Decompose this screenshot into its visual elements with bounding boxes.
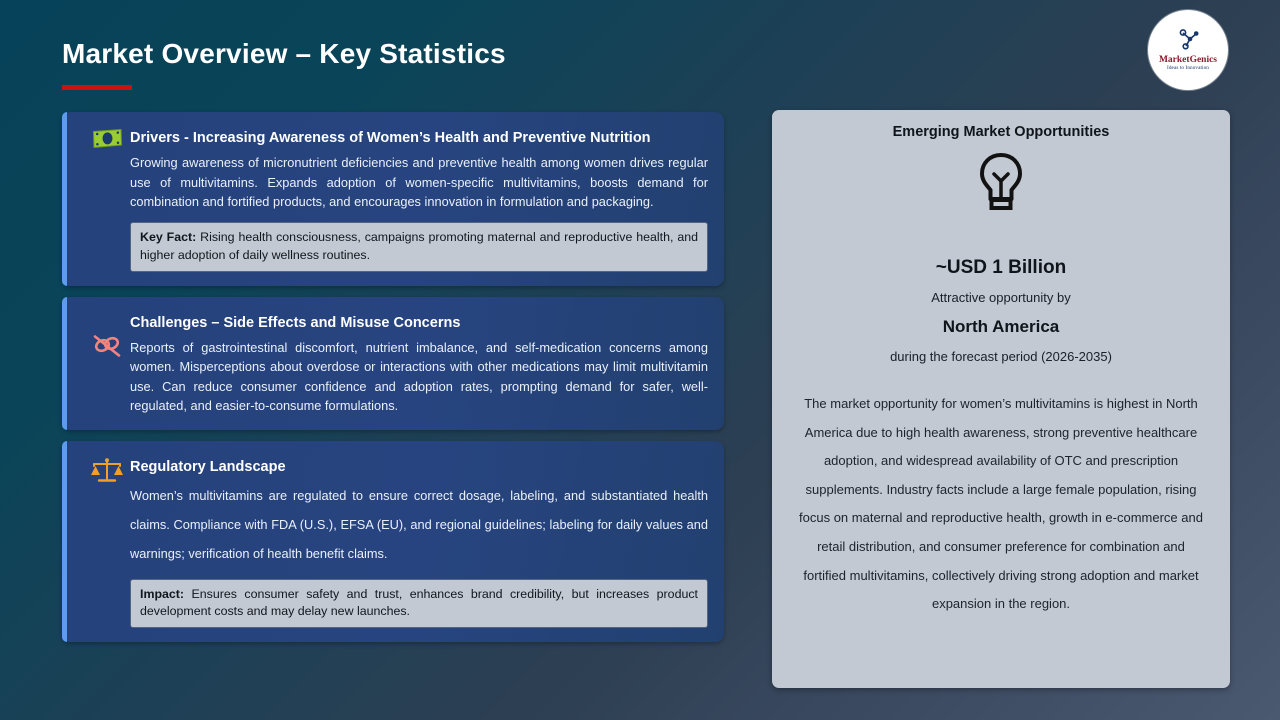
- card-drivers[interactable]: Drivers - Increasing Awareness of Women’…: [62, 112, 724, 286]
- page-title: Market Overview – Key Statistics: [62, 38, 506, 70]
- card-description: Growing awareness of micronutrient defic…: [130, 153, 708, 211]
- emerging-market-opportunities-panel: Emerging Market Opportunities ~USD 1 Bil…: [772, 110, 1230, 688]
- title-underline-accent: [62, 85, 132, 90]
- brand-logo: MarketGenics Ideas to Innovation: [1148, 10, 1228, 90]
- card-title: Drivers - Increasing Awareness of Women’…: [130, 126, 708, 151]
- panel-title: Emerging Market Opportunities: [893, 124, 1110, 140]
- impact-callout: Impact: Ensures consumer safety and trus…: [130, 579, 708, 629]
- market-value: ~USD 1 Billion: [936, 257, 1066, 279]
- lightbulb-icon: [974, 152, 1028, 219]
- money-banknote-icon: [84, 126, 130, 150]
- logo-name: MarketGenics: [1159, 56, 1217, 66]
- panel-description: The market opportunity for women’s multi…: [794, 390, 1208, 619]
- broken-link-icon: [84, 311, 130, 359]
- card-regulatory[interactable]: Regulatory Landscape Women’s multivitami…: [62, 441, 724, 643]
- card-title: Regulatory Landscape: [130, 455, 708, 480]
- forecast-period: during the forecast period (2026-2035): [890, 349, 1112, 364]
- callout-label: Impact:: [140, 587, 184, 601]
- card-title: Challenges – Side Effects and Misuse Con…: [130, 311, 708, 336]
- scales-balance-icon: [84, 455, 130, 485]
- callout-text: Rising health consciousness, campaigns p…: [140, 230, 698, 262]
- callout-text: Ensures consumer safety and trust, enhan…: [140, 587, 698, 619]
- key-fact-callout: Key Fact: Rising health consciousness, c…: [130, 222, 708, 272]
- card-description: Women’s multivitamins are regulated to e…: [130, 482, 708, 568]
- logo-tagline: Ideas to Innovation: [1167, 66, 1209, 72]
- card-challenges[interactable]: Challenges – Side Effects and Misuse Con…: [62, 297, 724, 430]
- callout-label: Key Fact:: [140, 230, 196, 244]
- leading-region: North America: [943, 317, 1060, 337]
- key-statistics-card-list: Drivers - Increasing Awareness of Women’…: [62, 112, 724, 653]
- network-nodes-icon: [1175, 28, 1201, 55]
- opportunity-caption: Attractive opportunity by: [931, 290, 1070, 305]
- card-description: Reports of gastrointestinal discomfort, …: [130, 338, 708, 416]
